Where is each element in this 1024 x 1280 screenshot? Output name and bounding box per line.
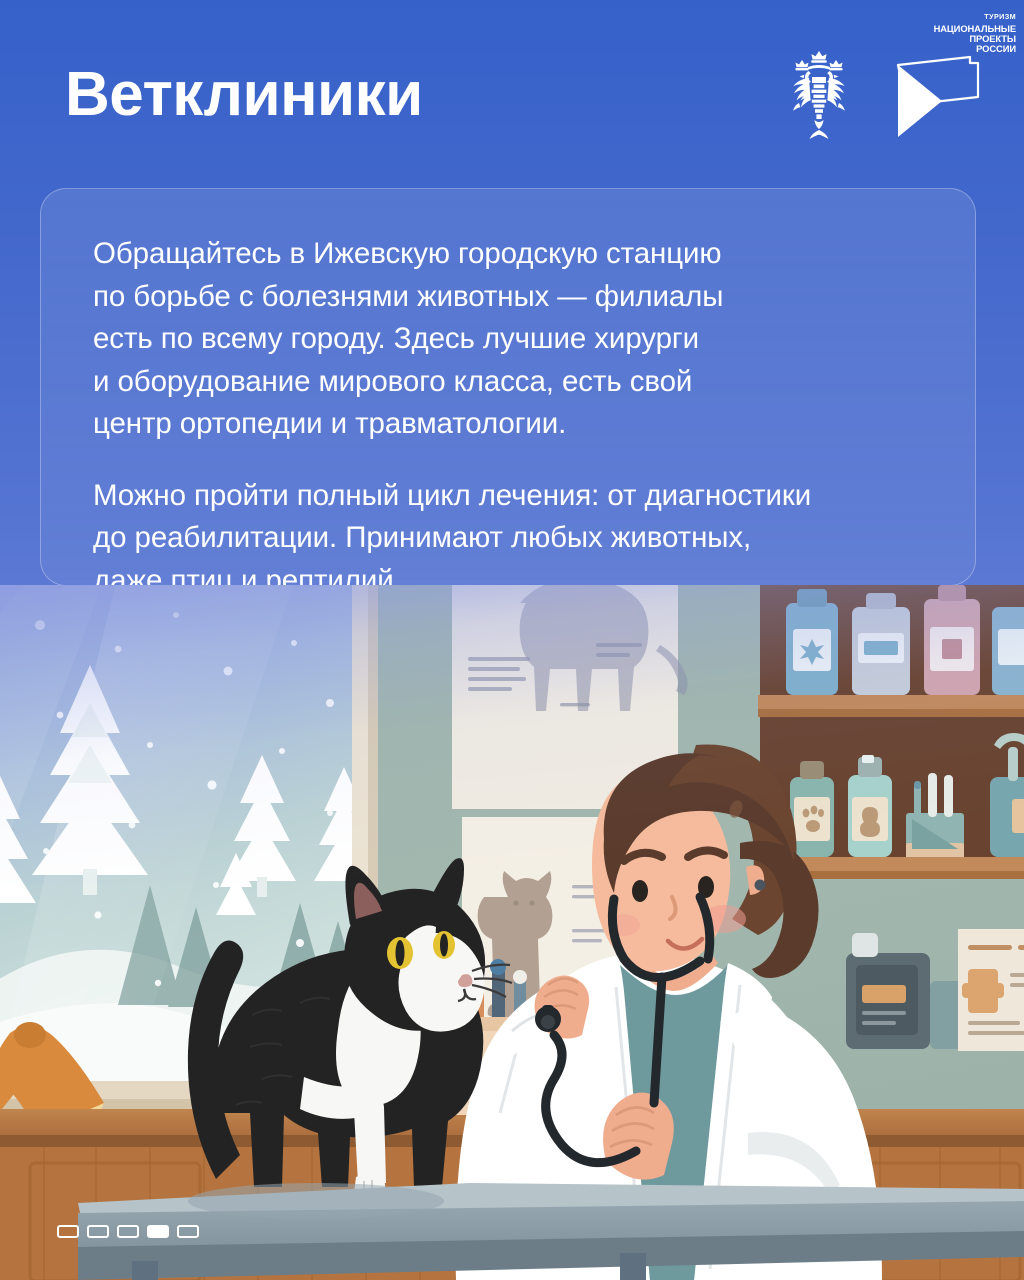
pagination-indicator[interactable] xyxy=(57,1225,199,1238)
cat-shadow xyxy=(188,1183,444,1219)
pagination-dot-4[interactable] xyxy=(147,1225,169,1238)
np-tourism-label: ТУРИЗМ xyxy=(934,13,1016,20)
np-line2: ПРОЕКТЫ xyxy=(934,34,1016,44)
pagination-dot-1[interactable] xyxy=(57,1225,79,1238)
vet-clinic-scene xyxy=(0,585,1024,1280)
poster-header: Ветклиники xyxy=(0,0,1024,185)
description-card: Обращайтесь в Ижевскую городскую станцию… xyxy=(40,188,976,586)
scene-root xyxy=(0,585,1024,1280)
poster-canvas: Ветклиники xyxy=(0,0,1024,1280)
pagination-dot-2[interactable] xyxy=(87,1225,109,1238)
russian-coat-of-arms-icon xyxy=(782,47,856,143)
vet-clinic-illustration xyxy=(0,585,1024,1280)
card-paragraph-2: Можно пройти полный цикл лечения: от диа… xyxy=(93,475,923,603)
np-line1: НАЦИОНАЛЬНЫЕ xyxy=(934,24,1016,34)
logo-group: ТУРИЗМ НАЦИОНАЛЬНЫЕ ПРОЕКТЫ РОССИИ xyxy=(782,47,986,143)
np-logo-text: ТУРИЗМ НАЦИОНАЛЬНЫЕ ПРОЕКТЫ РОССИИ xyxy=(934,13,1016,53)
card-paragraph-1: Обращайтесь в Ижевскую городскую станцию… xyxy=(93,233,923,446)
pagination-dot-5[interactable] xyxy=(177,1225,199,1238)
national-projects-russia-logo-icon xyxy=(878,49,986,141)
page-title: Ветклиники xyxy=(65,64,423,126)
pagination-dot-3[interactable] xyxy=(117,1225,139,1238)
